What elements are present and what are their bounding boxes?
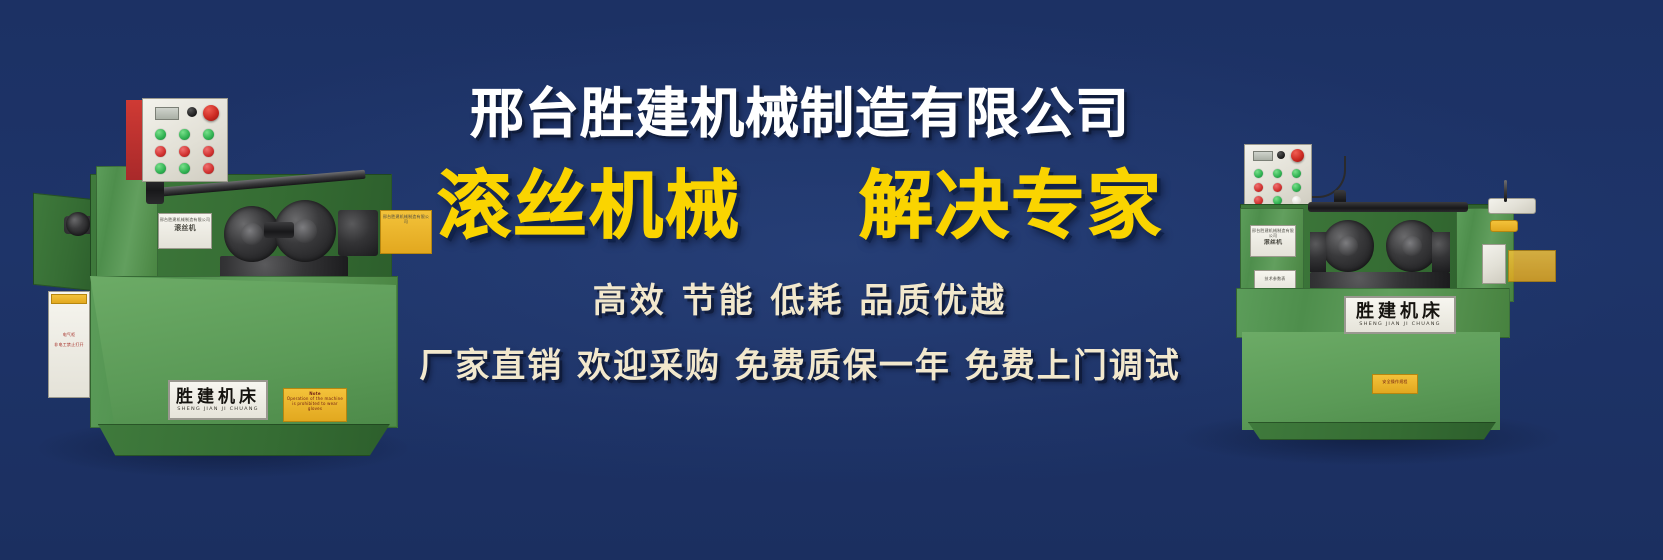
machine-right-panel-button-2[interactable] bbox=[1273, 169, 1282, 178]
headline-left: 滚丝机械 bbox=[437, 169, 741, 243]
machine-left-roller-1-hub bbox=[241, 223, 263, 245]
machine-left-spec-plate: 邢台胜建机械制造有限公司 滚丝机 bbox=[158, 213, 212, 249]
machine-left-panel-button-5[interactable] bbox=[179, 146, 190, 157]
machine-right-panel-button-6[interactable] bbox=[1292, 183, 1301, 192]
machine-left-panel-display bbox=[155, 107, 179, 120]
machine-left-panel-button-4[interactable] bbox=[155, 146, 166, 157]
machine-right-control-panel bbox=[1244, 144, 1312, 208]
machine-right-roller-2 bbox=[1386, 220, 1438, 272]
machine-left-panel-button-7[interactable] bbox=[155, 163, 166, 174]
machine-right-roller-guard-right bbox=[1432, 232, 1450, 272]
machine-right-panel-button-1[interactable] bbox=[1254, 169, 1263, 178]
machine-left-cabinet-label-1: 电气柜 bbox=[49, 332, 89, 337]
machine-image-left: 邢台胜建机械制造有限公司 邢台胜建机械制造有限公司 滚丝机 bbox=[28, 88, 418, 478]
machine-right-nameplate: 胜建机床 SHENG JIAN JI CHUANG bbox=[1344, 296, 1456, 334]
machine-right-warning-label: 安全操作规程 bbox=[1372, 374, 1418, 394]
machine-right-spec-plate-model: 滚丝机 bbox=[1251, 239, 1295, 247]
machine-right-base-skirt bbox=[1248, 422, 1496, 440]
machine-right-roller-2-hub bbox=[1402, 236, 1422, 256]
machine-right-top-rail bbox=[1308, 202, 1468, 212]
machine-left-roller-link bbox=[264, 222, 294, 238]
machine-left-cabinet-strip bbox=[51, 294, 87, 304]
machine-left-panel-button-8[interactable] bbox=[179, 163, 190, 174]
machine-left-control-panel bbox=[142, 98, 228, 182]
machine-left-side-roller bbox=[66, 212, 90, 236]
machine-right-accessory-head bbox=[1488, 198, 1536, 214]
headline-row: 滚丝机械 解决专家 bbox=[400, 169, 1200, 243]
machine-right-panel-emergency-stop-button[interactable] bbox=[1291, 149, 1304, 162]
machine-right-roller-1 bbox=[1322, 220, 1374, 272]
machine-right-side-box bbox=[1482, 244, 1506, 284]
machine-left-base bbox=[98, 424, 390, 456]
headline-right: 解决专家 bbox=[859, 169, 1163, 243]
machine-right-spec-plate-title: 邢台胜建机械制造有限公司 bbox=[1251, 226, 1295, 238]
machine-left-panel-button-2[interactable] bbox=[179, 129, 190, 140]
machine-right-brass-plate bbox=[1508, 250, 1556, 282]
machine-right-roller-1-hub bbox=[1338, 236, 1358, 256]
machine-left-panel-button-3[interactable] bbox=[203, 129, 214, 140]
machine-left-cabinet-label-2: 非电工禁止打开 bbox=[49, 342, 89, 347]
machine-left-panel-emergency-stop-button[interactable] bbox=[203, 105, 219, 121]
machine-left-spec-plate-model: 滚丝机 bbox=[159, 224, 211, 233]
machine-right-base-body bbox=[1242, 332, 1500, 430]
machine-left-electrical-cabinet: 电气柜 非电工禁止打开 bbox=[48, 291, 90, 398]
machine-left-warning-label: Note Operation of the machine is prohibi… bbox=[283, 388, 347, 422]
machine-left-nameplate: 胜建机床 SHENG JIAN JI CHUANG bbox=[168, 380, 268, 420]
machine-left-nameplate-main: 胜建机床 bbox=[176, 389, 260, 406]
machine-left-roller-2-hub bbox=[293, 219, 317, 243]
machine-right-accessory-stem bbox=[1504, 180, 1507, 202]
machine-left-panel-knob bbox=[187, 107, 197, 117]
machine-right-spec-plate: 邢台胜建机械制造有限公司 滚丝机 bbox=[1250, 225, 1296, 257]
machine-right-panel-button-3[interactable] bbox=[1292, 169, 1301, 178]
machine-image-right: 邢台胜建机械制造有限公司 滚丝机 技术参数表 胜建机床 SHENG JIAN J… bbox=[1160, 120, 1580, 460]
machine-left-panel-button-6[interactable] bbox=[203, 146, 214, 157]
machine-right-connector-block bbox=[1490, 220, 1518, 232]
sub-headline-features: 高效 节能 低耗 品质优越 bbox=[400, 273, 1200, 322]
machine-left-warning-body: Operation of the machine is prohibited t… bbox=[286, 396, 344, 411]
promotional-banner: 邢台胜建机械制造有限公司 邢台胜建机械制造有限公司 滚丝机 bbox=[0, 0, 1663, 560]
machine-right-roller-guard-left bbox=[1310, 232, 1326, 272]
machine-right-warning-label-text: 安全操作规程 bbox=[1373, 375, 1417, 384]
machine-right-panel-button-5[interactable] bbox=[1273, 183, 1282, 192]
machine-left-panel-button-9[interactable] bbox=[203, 163, 214, 174]
banner-text-block: 邢台胜建机械制造有限公司 滚丝机械 解决专家 高效 节能 低耗 品质优越 厂家直… bbox=[400, 86, 1200, 387]
machine-right-panel-button-4[interactable] bbox=[1254, 183, 1263, 192]
sub-headline-services: 厂家直销 欢迎采购 免费质保一年 免费上门调试 bbox=[400, 338, 1200, 387]
machine-left-side-block bbox=[33, 193, 95, 292]
machine-left-nameplate-sub: SHENG JIAN JI CHUANG bbox=[177, 406, 258, 411]
machine-left-panel-button-1[interactable] bbox=[155, 129, 166, 140]
machine-right-nameplate-main: 胜建机床 bbox=[1356, 303, 1444, 321]
machine-right-side-plate-text: 技术参数表 bbox=[1255, 271, 1295, 281]
machine-right-panel-knob bbox=[1277, 151, 1285, 159]
machine-right-nameplate-sub: SHENG JIAN JI CHUANG bbox=[1359, 321, 1440, 326]
machine-left-right-spindle bbox=[338, 210, 378, 256]
company-name: 邢台胜建机械制造有限公司 bbox=[400, 86, 1200, 143]
machine-right-panel-display bbox=[1253, 151, 1273, 161]
machine-left-spec-plate-title: 邢台胜建机械制造有限公司 bbox=[159, 214, 211, 222]
